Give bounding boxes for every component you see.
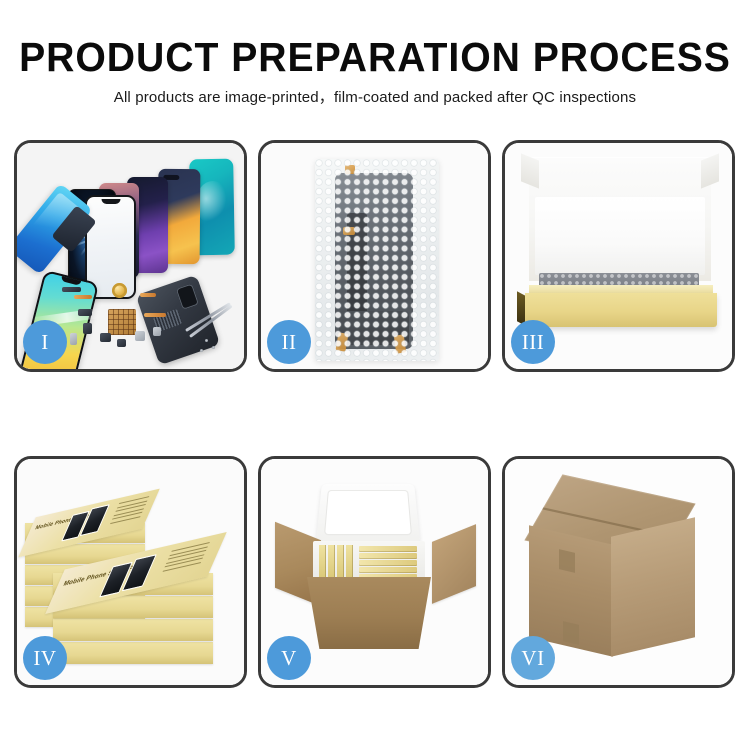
step-badge-2: II [267, 320, 311, 364]
box-front-panel [525, 293, 717, 327]
page-title: PRODUCT PREPARATION PROCESS [17, 34, 733, 80]
yellow-boxes-inside [319, 545, 419, 581]
step-badge-5: V [267, 636, 311, 680]
process-step-panel-2[interactable]: II [258, 140, 491, 372]
foam-box-lid [316, 484, 420, 544]
camera-ring-gold [112, 283, 127, 298]
screw-2 [212, 346, 215, 349]
chip-3 [100, 333, 111, 342]
bubble-texture [315, 159, 439, 361]
chip-4 [117, 339, 126, 347]
stack-box-front-4 [53, 642, 213, 664]
chip-2 [83, 323, 92, 334]
bubble-wrap-bag [315, 159, 439, 361]
screw-grid-board [108, 309, 136, 335]
process-step-panel-3[interactable]: III [502, 140, 735, 372]
carton-tape-tab-top [559, 549, 575, 573]
flex-cable-1 [74, 295, 92, 299]
carton-front-body [307, 577, 431, 649]
step-badge-6: VI [511, 636, 555, 680]
sim-tray [70, 333, 77, 345]
box-spec-lines-front [162, 542, 210, 574]
notch [101, 199, 120, 204]
camera-module [176, 283, 199, 309]
white-foam-sheet [535, 197, 705, 275]
antenna-strip [62, 287, 81, 292]
step-badge-4: IV [23, 636, 67, 680]
process-step-panel-4[interactable]: Mobile Phone Spare Parts Mobil [14, 456, 247, 688]
screw-3 [200, 349, 203, 352]
vibrator-motor [153, 327, 161, 336]
flex-cable-3 [144, 313, 166, 317]
box-spec-lines-back [109, 496, 149, 526]
process-step-grid: I I [14, 140, 736, 688]
step-badge-1: I [23, 320, 67, 364]
process-step-panel-1[interactable]: I [14, 140, 247, 372]
carton-right-flap [432, 524, 476, 604]
flex-cable-2 [140, 293, 156, 297]
process-step-panel-5[interactable]: V [258, 456, 491, 688]
header: PRODUCT PREPARATION PROCESS All products… [0, 34, 750, 108]
step-badge-3: III [511, 320, 555, 364]
chip-1 [78, 309, 92, 316]
speaker-mesh [135, 331, 145, 341]
screw-1 [205, 339, 208, 342]
page-subtitle: All products are image-printed，film-coat… [4, 88, 747, 108]
product-preparation-infographic: PRODUCT PREPARATION PROCESS All products… [0, 0, 750, 750]
carton-right-face [611, 517, 695, 656]
process-step-panel-6[interactable]: VI [502, 456, 735, 688]
carton-tape-tab-bottom [563, 621, 579, 645]
stack-box-front-3 [53, 619, 213, 641]
notch [61, 276, 82, 286]
